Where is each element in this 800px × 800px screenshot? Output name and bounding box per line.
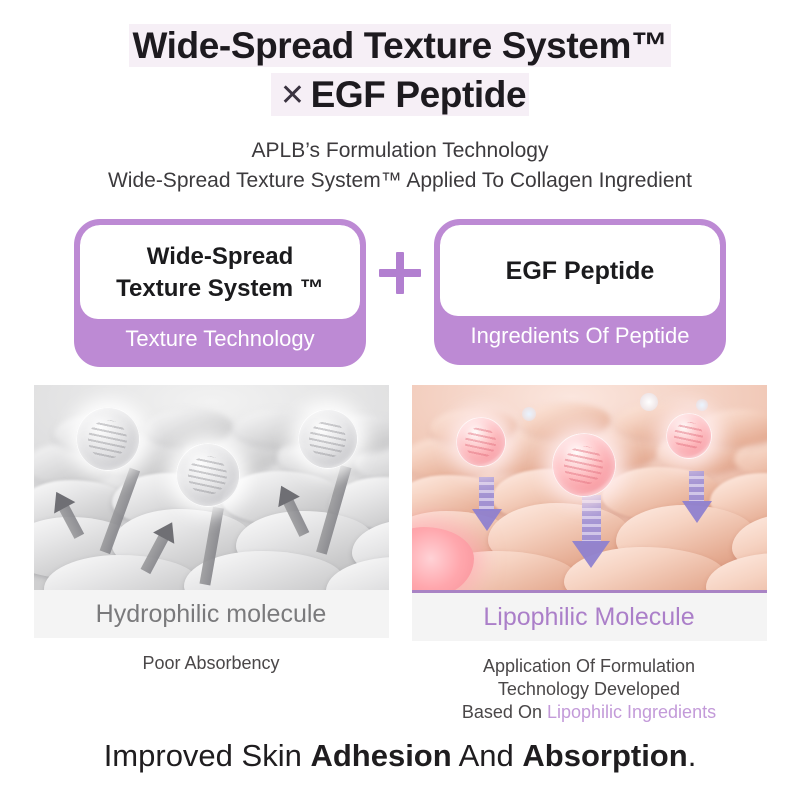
sub-caption-lipophilic-line-3-highlight: Lipophilic Ingredients [547,702,716,722]
lipophilic-droplet-1 [456,417,506,467]
panel-lipophilic: Lipophilic Molecule Application Of Formu… [412,385,767,724]
footer-tagline: Improved Skin Adhesion And Absorption. [0,738,800,774]
title-line-2-text: EGF Peptide [311,74,527,115]
badge-texture-system-body: Wide-Spread Texture System ™ [80,225,360,319]
subtitle: APLB’s Formulation Technology Wide-Sprea… [0,136,800,197]
panel-hydrophilic-image [34,385,389,590]
sub-caption-lipophilic-line-3-prefix: Based On [462,702,547,722]
badge-texture-system-title-line-2: Texture System ™ [90,273,350,305]
subtitle-line-1: APLB’s Formulation Technology [0,136,800,166]
badge-texture-system-label: Texture Technology [80,319,360,362]
sub-caption-lipophilic: Application Of Formulation Technology De… [412,655,767,724]
lipophilic-droplet-3 [666,413,712,459]
footer-bold-adhesion: Adhesion [310,738,451,773]
badge-egf-peptide-title: EGF Peptide [450,255,710,289]
bokeh-1 [522,407,536,421]
title-line-1-text: Wide-Spread Texture System™ [129,24,670,67]
comparison-panels: Hydrophilic molecule Poor Absorbency [0,385,800,724]
panel-hydrophilic: Hydrophilic molecule Poor Absorbency [34,385,389,724]
plus-operator [366,219,434,368]
caption-lipophilic: Lipophilic Molecule [412,590,767,641]
sub-caption-hydrophilic: Poor Absorbency [34,652,389,675]
caption-hydrophilic: Hydrophilic molecule [34,590,389,638]
footer-part-3: . [688,738,697,773]
hydrophilic-droplet-3 [298,409,358,469]
bokeh-3 [696,399,708,411]
footer-bold-absorption: Absorption [522,738,687,773]
badge-egf-peptide-body: EGF Peptide [440,225,720,317]
sub-caption-lipophilic-line-2: Technology Developed [412,678,767,701]
panel-lipophilic-image [412,385,767,590]
sub-caption-lipophilic-line-1: Application Of Formulation [412,655,767,678]
page-title: Wide-Spread Texture System™ ✕EGF Peptide [0,0,800,120]
badge-texture-system-title-line-1: Wide-Spread [90,241,350,273]
plus-icon [379,252,421,294]
badge-egf-peptide: EGF Peptide Ingredients Of Peptide [434,219,726,365]
badge-texture-system: Wide-Spread Texture System ™ Texture Tec… [74,219,366,368]
footer-part-2: And [452,738,523,773]
badges-row: Wide-Spread Texture System ™ Texture Tec… [0,219,800,368]
footer-part-1: Improved Skin [104,738,311,773]
hydrophilic-droplet-1 [76,407,140,471]
badge-egf-peptide-label: Ingredients Of Peptide [440,316,720,359]
title-line-1: Wide-Spread Texture System™ [0,22,800,71]
sub-caption-lipophilic-line-3: Based On Lipophilic Ingredients [412,701,767,724]
lipophilic-droplet-2 [552,433,616,497]
subtitle-line-2: Wide-Spread Texture System™ Applied To C… [0,166,800,196]
title-line-2: ✕EGF Peptide [0,71,800,120]
title-separator-x-icon: ✕ [274,78,311,113]
hydrophilic-droplet-2 [176,443,240,507]
bokeh-2 [640,393,658,411]
